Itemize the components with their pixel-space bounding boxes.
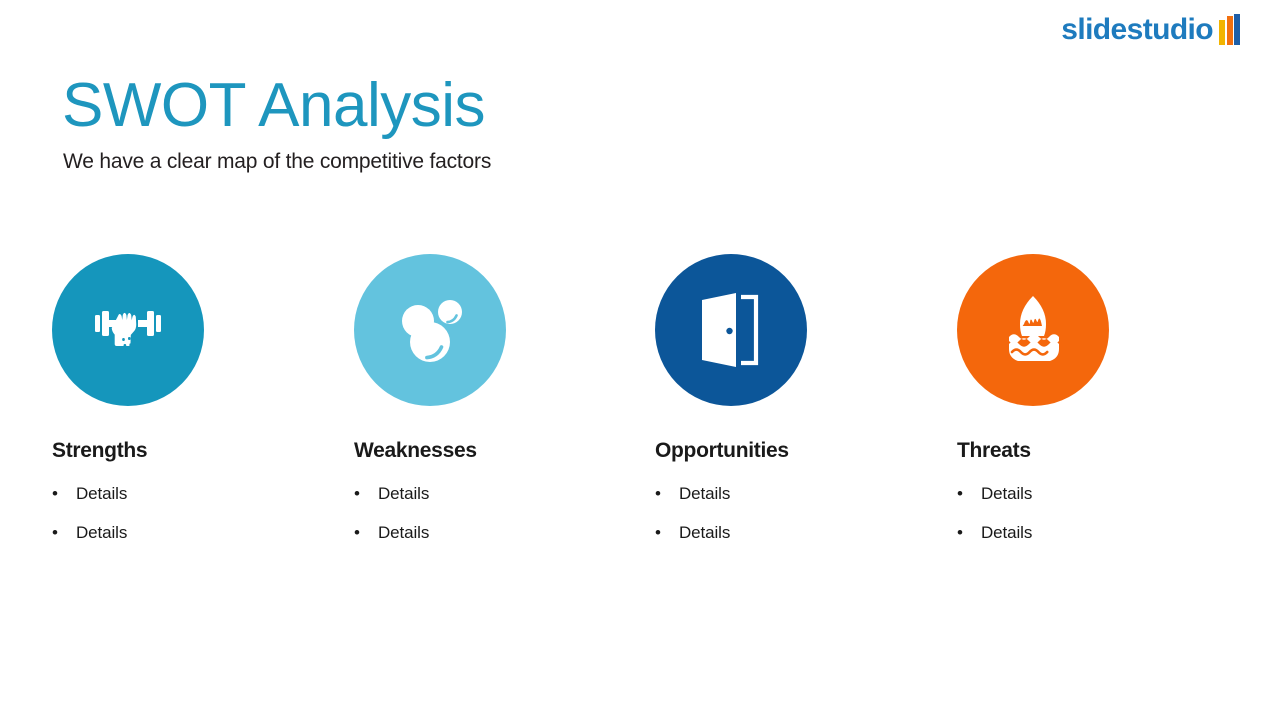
strengths-icon-circle: [52, 254, 204, 406]
bullet-text: Details: [76, 522, 127, 543]
bullet-marker: •: [957, 522, 981, 543]
swot-heading-strengths: Strengths: [52, 438, 352, 463]
opportunities-icon-circle: [655, 254, 807, 406]
open-door-icon: [696, 290, 766, 370]
swot-heading-opportunities: Opportunities: [655, 438, 955, 463]
list-item: • Details: [52, 522, 352, 543]
list-item: • Details: [957, 522, 1257, 543]
bullet-marker: •: [52, 522, 76, 543]
logo-bar-yellow: [1219, 20, 1225, 45]
swot-bullets-weaknesses: • Details • Details: [354, 483, 654, 544]
logo-wordmark: slidestudio: [1061, 15, 1213, 45]
logo-bar-blue: [1234, 14, 1240, 45]
list-item: • Details: [957, 483, 1257, 504]
bullet-marker: •: [655, 522, 679, 543]
swot-column-strengths: Strengths • Details • Details: [52, 254, 352, 562]
bullet-marker: •: [655, 483, 679, 504]
bullet-marker: •: [354, 483, 378, 504]
page-title: SWOT Analysis: [62, 73, 485, 138]
slide-canvas: slidestudio SWOT Analysis We have a clea…: [0, 0, 1280, 720]
threats-icon-circle: [957, 254, 1109, 406]
swot-bullets-strengths: • Details • Details: [52, 483, 352, 544]
swot-column-opportunities: Opportunities • Details • Details: [655, 254, 955, 562]
bullet-text: Details: [981, 522, 1032, 543]
bubbles-icon: [390, 290, 470, 370]
swot-column-threats: Threats • Details • Details: [957, 254, 1257, 562]
bullet-text: Details: [679, 522, 730, 543]
bullet-marker: •: [52, 483, 76, 504]
swot-heading-threats: Threats: [957, 438, 1257, 463]
logo-bar-orange: [1227, 16, 1233, 45]
bullet-marker: •: [957, 483, 981, 504]
shark-fin-waves-icon: [995, 292, 1071, 368]
list-item: • Details: [655, 522, 955, 543]
list-item: • Details: [354, 483, 654, 504]
page-subtitle: We have a clear map of the competitive f…: [63, 150, 491, 174]
bullet-text: Details: [378, 483, 429, 504]
swot-bullets-opportunities: • Details • Details: [655, 483, 955, 544]
list-item: • Details: [354, 522, 654, 543]
bullet-marker: •: [354, 522, 378, 543]
list-item: • Details: [52, 483, 352, 504]
dumbbell-hand-icon: [89, 291, 167, 369]
logo-bars-icon: [1219, 14, 1240, 45]
bullet-text: Details: [378, 522, 429, 543]
bullet-text: Details: [76, 483, 127, 504]
swot-column-weaknesses: Weaknesses • Details • Details: [354, 254, 654, 562]
bullet-text: Details: [981, 483, 1032, 504]
brand-logo: slidestudio: [1061, 14, 1240, 45]
swot-bullets-threats: • Details • Details: [957, 483, 1257, 544]
bullet-text: Details: [679, 483, 730, 504]
weaknesses-icon-circle: [354, 254, 506, 406]
list-item: • Details: [655, 483, 955, 504]
swot-heading-weaknesses: Weaknesses: [354, 438, 654, 463]
